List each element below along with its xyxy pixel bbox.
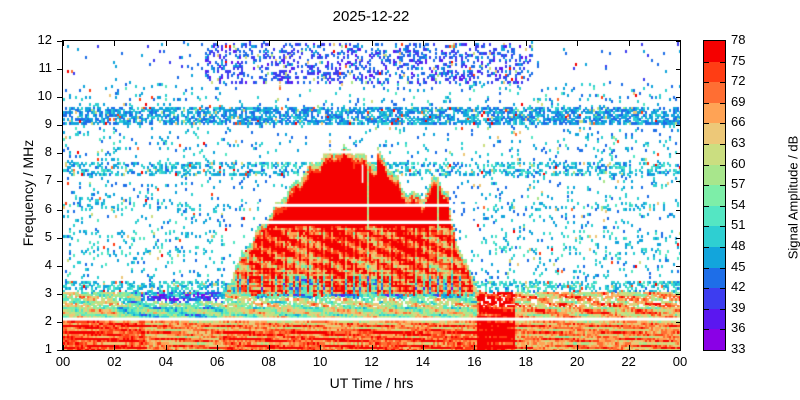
y-tick-right: [676, 181, 681, 182]
colorbar-tick-right: [720, 82, 726, 83]
colorbar-band: [704, 226, 725, 247]
x-axis-title: UT Time / hrs: [62, 375, 681, 391]
x-tick: [166, 345, 167, 351]
spectrogram-plot-area[interactable]: [62, 40, 681, 351]
colorbar-tick-right: [720, 226, 726, 227]
y-tick: [57, 266, 63, 267]
x-tick-label: 16: [454, 354, 494, 369]
y-tick: [57, 97, 63, 98]
colorbar-band: [704, 206, 725, 227]
colorbar-tick: [703, 82, 709, 83]
y-tick: [57, 69, 63, 70]
x-tick-label: 20: [557, 354, 597, 369]
x-tick-top: [217, 41, 218, 46]
colorbar-tick-right: [720, 206, 726, 207]
colorbar-band: [704, 144, 725, 165]
x-tick: [526, 345, 527, 351]
x-tick-top: [114, 41, 115, 46]
colorbar-tick-right: [720, 185, 726, 186]
colorbar-tick-label: 42: [731, 279, 745, 294]
colorbar-tick-right: [720, 309, 726, 310]
colorbar-band: [704, 268, 725, 289]
colorbar-band: [704, 165, 725, 186]
colorbar-tick-label: 75: [731, 53, 745, 68]
y-tick: [57, 41, 63, 42]
y-tick: [57, 294, 63, 295]
y-tick-label: 1: [18, 341, 52, 356]
x-tick-label: 14: [403, 354, 443, 369]
x-tick: [629, 345, 630, 351]
x-tick-label: 12: [352, 354, 392, 369]
x-tick: [372, 345, 373, 351]
colorbar-tick-label: 78: [731, 32, 745, 47]
colorbar-axis-title: Signal Amplitude / dB: [786, 88, 800, 308]
x-tick: [217, 345, 218, 351]
colorbar-tick-label: 69: [731, 94, 745, 109]
colorbar-tick: [703, 247, 709, 248]
x-tick-label: 00: [43, 354, 83, 369]
x-tick-label: 22: [609, 354, 649, 369]
y-tick-label: 12: [18, 32, 52, 47]
y-axis-title: Frequency / MHz: [20, 83, 36, 303]
x-tick-top: [166, 41, 167, 46]
colorbar-band: [704, 185, 725, 206]
colorbar-band: [704, 103, 725, 124]
figure: 2025-12-22 00020406081012141618202200123…: [0, 0, 800, 400]
y-tick: [57, 210, 63, 211]
colorbar-tick-right: [720, 288, 726, 289]
colorbar-tick: [703, 329, 709, 330]
x-tick-top: [320, 41, 321, 46]
x-tick-top: [577, 41, 578, 46]
x-tick-label: 08: [249, 354, 289, 369]
colorbar-band: [704, 41, 725, 62]
colorbar-tick-right: [720, 62, 726, 63]
colorbar-tick-right: [720, 123, 726, 124]
colorbar-band: [704, 123, 725, 144]
colorbar-tick: [703, 144, 709, 145]
y-tick-right: [676, 41, 681, 42]
y-tick-right: [676, 238, 681, 239]
x-tick-top: [423, 41, 424, 46]
x-tick-label: 18: [506, 354, 546, 369]
y-tick: [57, 125, 63, 126]
colorbar-tick-right: [720, 247, 726, 248]
colorbar-tick-right: [720, 144, 726, 145]
x-tick: [320, 345, 321, 351]
colorbar-tick: [703, 185, 709, 186]
colorbar-tick-label: 36: [731, 320, 745, 335]
x-tick: [269, 345, 270, 351]
y-tick: [57, 238, 63, 239]
colorbar-tick-label: 63: [731, 135, 745, 150]
y-tick-right: [676, 125, 681, 126]
colorbar-tick-label: 33: [731, 341, 745, 356]
y-tick-label: 11: [18, 60, 52, 75]
colorbar-band: [704, 82, 725, 103]
colorbar[interactable]: [703, 40, 726, 351]
y-tick: [57, 350, 63, 351]
x-tick-label: 02: [94, 354, 134, 369]
x-tick-top: [474, 41, 475, 46]
y-tick-right: [676, 294, 681, 295]
y-tick-right: [676, 97, 681, 98]
colorbar-band: [704, 329, 725, 350]
colorbar-band: [704, 288, 725, 309]
x-tick-top: [526, 41, 527, 46]
colorbar-tick-label: 66: [731, 114, 745, 129]
x-tick-label: 10: [300, 354, 340, 369]
colorbar-tick-label: 60: [731, 156, 745, 171]
x-tick: [114, 345, 115, 351]
colorbar-tick-label: 51: [731, 217, 745, 232]
y-tick-right: [676, 69, 681, 70]
colorbar-tick-label: 57: [731, 176, 745, 191]
y-tick-right: [676, 210, 681, 211]
colorbar-tick-label: 39: [731, 300, 745, 315]
colorbar-tick-right: [720, 103, 726, 104]
colorbar-tick-right: [720, 268, 726, 269]
y-tick-label: 2: [18, 313, 52, 328]
colorbar-tick: [703, 206, 709, 207]
chart-title: 2025-12-22: [0, 8, 742, 25]
x-tick: [423, 345, 424, 351]
x-tick-top: [269, 41, 270, 46]
colorbar-tick: [703, 309, 709, 310]
colorbar-tick-label: 45: [731, 259, 745, 274]
colorbar-tick-label: 54: [731, 197, 745, 212]
x-tick-top: [372, 41, 373, 46]
y-tick: [57, 181, 63, 182]
y-tick-right: [676, 322, 681, 323]
colorbar-band: [704, 62, 725, 83]
x-tick: [474, 345, 475, 351]
x-tick: [577, 345, 578, 351]
colorbar-tick: [703, 226, 709, 227]
x-tick: [63, 345, 64, 351]
colorbar-tick: [703, 268, 709, 269]
x-tick-label: 06: [197, 354, 237, 369]
colorbar-tick: [703, 62, 709, 63]
y-tick: [57, 322, 63, 323]
x-tick-top: [63, 41, 64, 46]
colorbar-tick-label: 48: [731, 238, 745, 253]
x-tick-label: 04: [146, 354, 186, 369]
colorbar-tick: [703, 165, 709, 166]
y-tick-right: [676, 350, 681, 351]
colorbar-band: [704, 309, 725, 330]
y-tick: [57, 153, 63, 154]
colorbar-tick: [703, 288, 709, 289]
spectrogram-canvas: [63, 41, 680, 350]
colorbar-tick: [703, 123, 709, 124]
colorbar-tick-right: [720, 165, 726, 166]
y-tick-right: [676, 266, 681, 267]
colorbar-band: [704, 247, 725, 268]
colorbar-tick-label: 72: [731, 73, 745, 88]
colorbar-tick: [703, 103, 709, 104]
colorbar-tick-right: [720, 329, 726, 330]
y-tick-right: [676, 153, 681, 154]
x-tick-label: 00: [660, 354, 700, 369]
x-tick-top: [629, 41, 630, 46]
